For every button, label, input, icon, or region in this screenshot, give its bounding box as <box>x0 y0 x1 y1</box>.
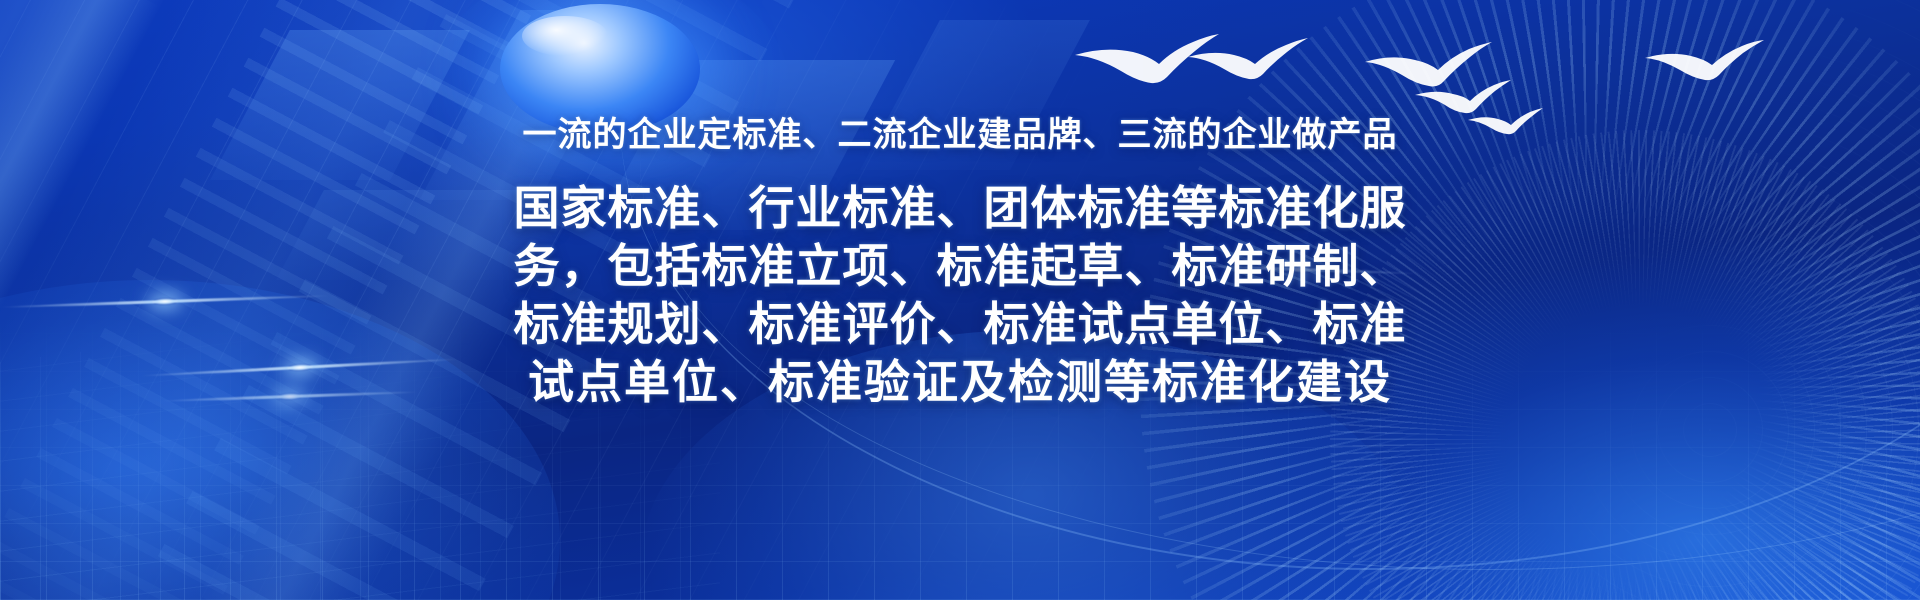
banner-text-container: 一流的企业定标准、二流企业建品牌、三流的企业做产品 国家标准、行业标准、团体标准… <box>0 0 1920 600</box>
promotional-banner: 一流的企业定标准、二流企业建品牌、三流的企业做产品 国家标准、行业标准、团体标准… <box>0 0 1920 600</box>
banner-body-line: 试点单位、标准验证及检测等标准化建设 <box>445 353 1475 411</box>
banner-body-copy: 国家标准、行业标准、团体标准等标准化服 务，包括标准立项、标准起草、标准研制、 … <box>445 179 1475 411</box>
banner-body-line: 务，包括标准立项、标准起草、标准研制、 <box>445 237 1475 295</box>
banner-body-line: 国家标准、行业标准、团体标准等标准化服 <box>445 179 1475 237</box>
banner-body-line: 标准规划、标准评价、标准试点单位、标准 <box>445 295 1475 353</box>
banner-headline: 一流的企业定标准、二流企业建品牌、三流的企业做产品 <box>523 113 1398 157</box>
